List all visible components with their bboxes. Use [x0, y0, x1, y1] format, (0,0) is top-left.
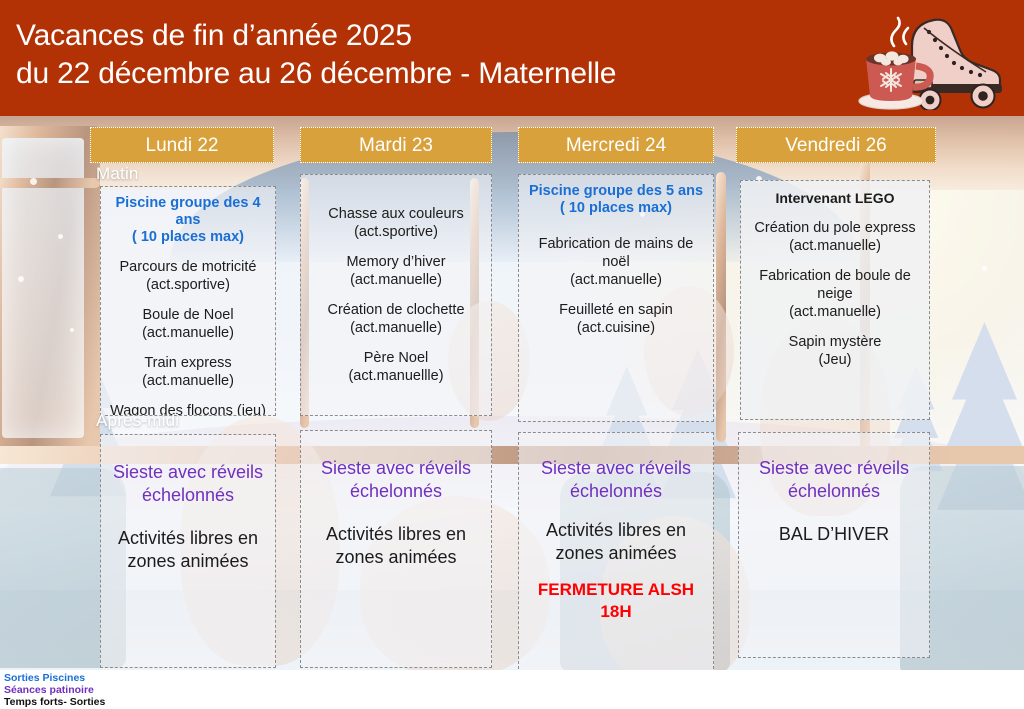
morning-cell-vendredi[interactable]: Intervenant LEGO Création du pole expres…: [740, 180, 930, 420]
nap-label: Sieste avec réveils échelonnés: [307, 457, 485, 503]
hot-chocolate-and-roller-skate-icon: [850, 6, 1012, 110]
legend: Sorties Piscines Séances patinoire Temps…: [0, 670, 1024, 709]
activity-item: Fabrication de mains de noël (act.manuel…: [525, 235, 707, 289]
legend-item-pool: Sorties Piscines: [4, 672, 1024, 684]
poster-header: Vacances de fin d’année 2025 du 22 décem…: [0, 0, 1024, 116]
week-planning-grid: Lundi 22 Mardi 23 Mercredi 24 Vendredi 2…: [0, 116, 1024, 709]
afternoon-cell-mercredi[interactable]: Sieste avec réveils échelonnés Activités…: [518, 432, 714, 674]
activity-item: Sapin mystère (Jeu): [747, 333, 923, 369]
morning-cell-mercredi[interactable]: Piscine groupe des 5 ans ( 10 places max…: [518, 174, 714, 422]
afternoon-activity: Activités libres en zones animées: [525, 519, 707, 565]
afternoon-cell-vendredi[interactable]: Sieste avec réveils échelonnés BAL D’HIV…: [738, 432, 930, 658]
day-header-mardi[interactable]: Mardi 23: [300, 127, 492, 163]
activity-item: Boule de Noel (act.manuelle): [107, 306, 269, 342]
period-label-morning: Matin: [96, 164, 139, 184]
page-title: Vacances de fin d’année 2025 du 22 décem…: [16, 17, 616, 93]
day-header-lundi[interactable]: Lundi 22: [90, 127, 274, 163]
day-header-mercredi[interactable]: Mercredi 24: [518, 127, 714, 163]
activity-item: Fabrication de boule de neige (act.manue…: [747, 267, 923, 321]
activity-item: Train express (act.manuelle): [107, 354, 269, 390]
nap-label: Sieste avec réveils échelonnés: [107, 461, 269, 507]
nap-label: Sieste avec réveils échelonnés: [745, 457, 923, 503]
activity-item: Memory d’hiver (act.manuelle): [307, 253, 485, 289]
day-header-vendredi[interactable]: Vendredi 26: [736, 127, 936, 163]
special-provider-label: Intervenant LEGO: [747, 189, 923, 207]
activity-item: Parcours de motricité (act.sportive): [107, 258, 269, 294]
pool-note: Piscine groupe des 4 ans ( 10 places max…: [107, 195, 269, 246]
legend-item-rink: Séances patinoire: [4, 684, 1024, 696]
activity-item: Chasse aux couleurs (act.sportive): [307, 205, 485, 241]
activity-item: Père Noel (act.manuellle): [307, 349, 485, 385]
morning-cell-mardi[interactable]: Chasse aux couleurs (act.sportive) Memor…: [300, 174, 492, 416]
afternoon-cell-mardi[interactable]: Sieste avec réveils échelonnés Activités…: [300, 430, 492, 668]
legend-item-strong: Temps forts- Sorties: [4, 696, 1024, 708]
afternoon-activity: Activités libres en zones animées: [307, 523, 485, 569]
afternoon-activity: Activités libres en zones animées: [107, 527, 269, 573]
afternoon-activity: BAL D’HIVER: [745, 523, 923, 546]
morning-cell-lundi[interactable]: Piscine groupe des 4 ans ( 10 places max…: [100, 186, 276, 416]
closing-notice: FERMETURE ALSH 18H: [525, 579, 707, 623]
period-label-afternoon: Après-midi: [96, 411, 179, 431]
afternoon-cell-lundi[interactable]: Sieste avec réveils échelonnés Activités…: [100, 434, 276, 668]
planning-poster: Vacances de fin d’année 2025 du 22 décem…: [0, 0, 1024, 709]
pool-note: Piscine groupe des 5 ans ( 10 places max…: [525, 183, 707, 217]
activity-item: Feuilleté en sapin (act.cuisine): [525, 301, 707, 337]
nap-label: Sieste avec réveils échelonnés: [525, 457, 707, 503]
activity-item: Création du pole express (act.manuelle): [747, 219, 923, 255]
activity-item: Création de clochette (act.manuelle): [307, 301, 485, 337]
